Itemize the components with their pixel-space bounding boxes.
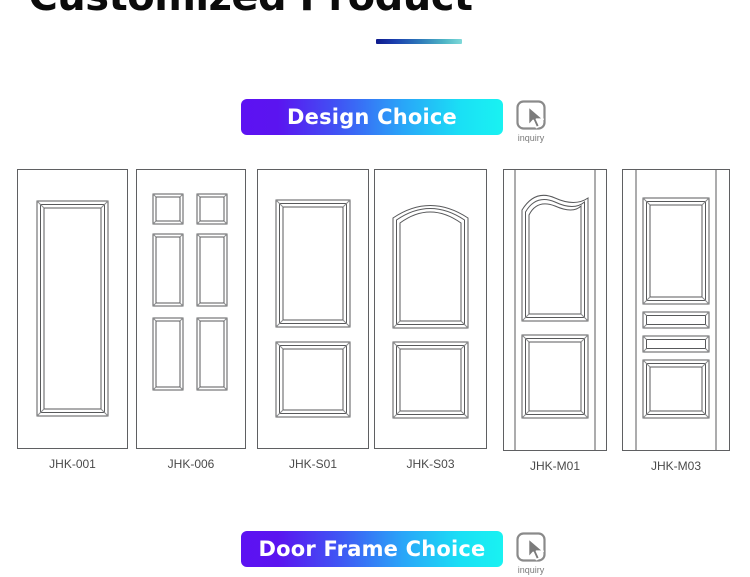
door-thumbnail-jhk-m03[interactable] [622, 169, 730, 451]
door-thumbnail-jhk-001[interactable] [17, 169, 128, 449]
frame-inquiry-group[interactable]: inquiry [513, 531, 549, 575]
door-item-jhk-m03[interactable]: JHK-M03 [622, 169, 730, 451]
door-thumbnail-jhk-006[interactable] [136, 169, 246, 449]
door-frame-choice-label: Door Frame Choice [259, 537, 486, 561]
door-item-jhk-006[interactable]: JHK-006 [136, 169, 246, 449]
door-label-jhk-m03: JHK-M03 [622, 459, 730, 473]
door-item-jhk-s01[interactable]: JHK-S01 [257, 169, 369, 449]
cursor-pointer-icon[interactable] [515, 531, 547, 564]
door-label-jhk-s01: JHK-S01 [257, 457, 369, 471]
design-inquiry-label: inquiry [518, 133, 545, 143]
design-inquiry-group[interactable]: inquiry [513, 99, 549, 143]
door-thumbnail-jhk-s01[interactable] [257, 169, 369, 449]
door-label-jhk-s03: JHK-S03 [374, 457, 487, 471]
door-item-jhk-s03[interactable]: JHK-S03 [374, 169, 487, 449]
door-thumbnail-jhk-m01[interactable] [503, 169, 607, 451]
door-drawing-two-panel-cathedral-with-stiles [504, 170, 606, 450]
door-label-jhk-006: JHK-006 [136, 457, 246, 471]
cursor-pointer-icon[interactable] [515, 99, 547, 132]
door-drawing-six-panel [137, 170, 245, 448]
door-drawing-four-panel-with-stiles [623, 170, 729, 450]
door-design-grid: JHK-001 [0, 169, 750, 479]
title-underline-accent [376, 39, 462, 44]
door-drawing-single-flat-panel [18, 170, 127, 448]
frame-inquiry-label: inquiry [518, 565, 545, 575]
door-label-jhk-001: JHK-001 [17, 457, 128, 471]
door-frame-choice-button[interactable]: Door Frame Choice [241, 531, 503, 567]
door-frame-choice-row: Door Frame Choice inquiry [241, 531, 549, 575]
door-thumbnail-jhk-s03[interactable] [374, 169, 487, 449]
design-choice-row: Design Choice inquiry [241, 99, 549, 143]
door-label-jhk-m01: JHK-M01 [503, 459, 607, 473]
design-choice-button[interactable]: Design Choice [241, 99, 503, 135]
design-choice-label: Design Choice [287, 105, 457, 129]
door-drawing-two-panel-arched-top [375, 170, 486, 448]
page-title: Customized Product [0, 0, 501, 20]
door-drawing-two-panel-square [258, 170, 368, 448]
door-item-jhk-001[interactable]: JHK-001 [17, 169, 128, 449]
door-item-jhk-m01[interactable]: JHK-M01 [503, 169, 607, 451]
